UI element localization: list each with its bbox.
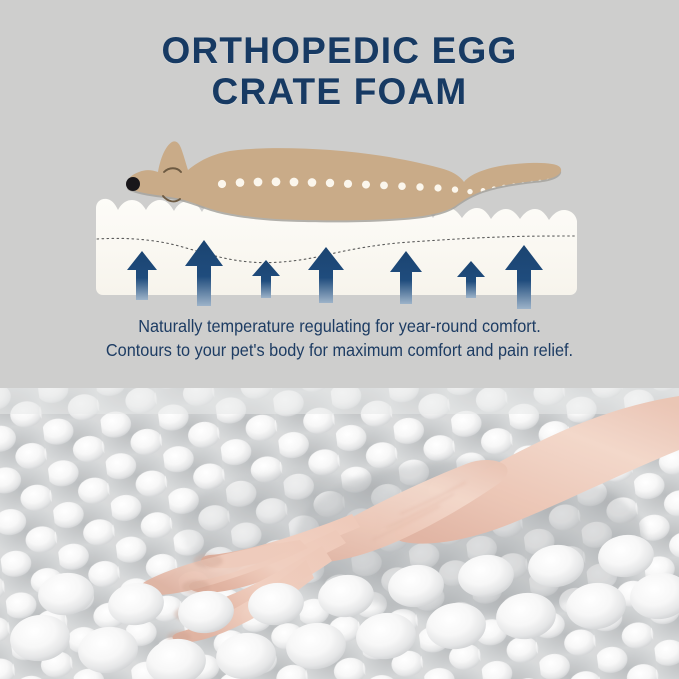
page-title: ORTHOPEDIC EGG CRATE FOAM — [0, 30, 679, 112]
subtitle-line-1: Naturally temperature regulating for yea… — [24, 314, 655, 338]
egg-crate-foam-hand-photo — [0, 388, 679, 679]
subtitle-line-2: Contours to your pet's body for maximum … — [24, 338, 655, 362]
title-line-2: CRATE FOAM — [0, 71, 679, 112]
product-feature-graphic: ORTHOPEDIC EGG CRATE FOAM — [0, 0, 679, 679]
top-infographic-panel: ORTHOPEDIC EGG CRATE FOAM — [0, 0, 679, 388]
dog-nose-icon — [126, 177, 140, 191]
title-line-1: ORTHOPEDIC EGG — [0, 30, 679, 71]
feature-description: Naturally temperature regulating for yea… — [0, 314, 679, 362]
dog-on-foam-illustration — [0, 120, 679, 310]
